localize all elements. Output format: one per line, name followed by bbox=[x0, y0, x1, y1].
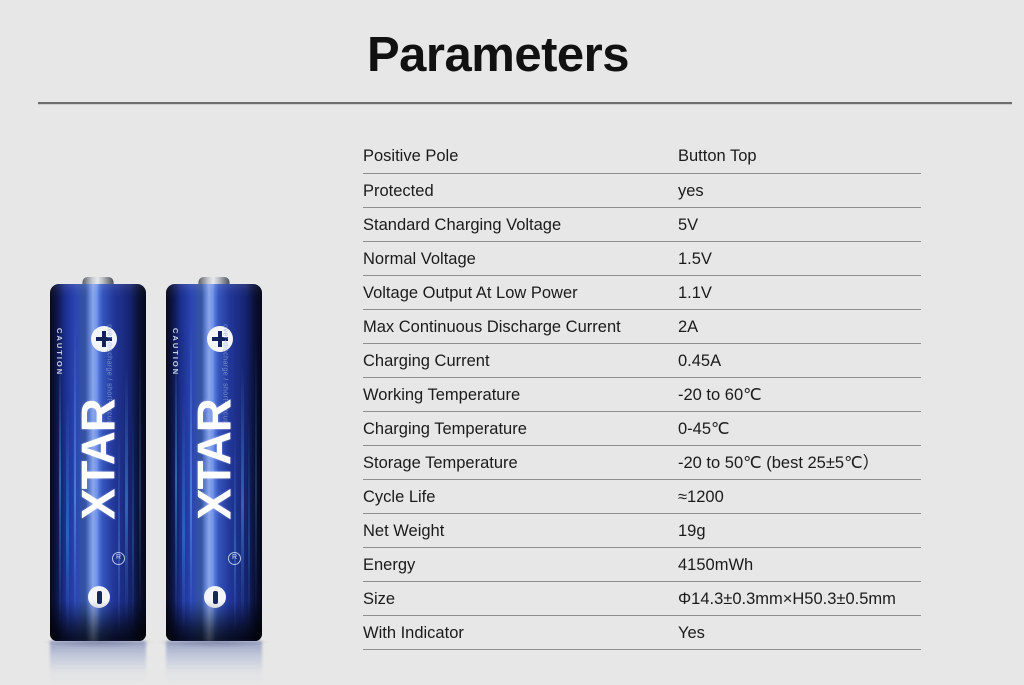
spec-label: Protected bbox=[363, 181, 678, 201]
table-row: Positive PoleButton Top bbox=[363, 139, 921, 174]
table-row: Normal Voltage1.5V bbox=[363, 242, 921, 276]
spec-value: 5V bbox=[678, 215, 921, 235]
spec-label: Charging Current bbox=[363, 351, 678, 371]
battery-reflection bbox=[166, 641, 262, 685]
table-row: SizeΦ14.3±0.3mm×H50.3±0.5mm bbox=[363, 582, 921, 616]
spec-value: 1.1V bbox=[678, 283, 921, 303]
table-row: Cycle Life≈1200 bbox=[363, 480, 921, 514]
spec-value: -20 to 50℃ (best 25±5℃） bbox=[678, 453, 921, 473]
spec-label: Normal Voltage bbox=[363, 249, 678, 269]
spec-value: ≈1200 bbox=[678, 487, 921, 507]
spec-label: Standard Charging Voltage bbox=[363, 215, 678, 235]
spec-label: Size bbox=[363, 589, 678, 609]
xtar-brand-logo: XTAR bbox=[71, 365, 126, 555]
table-row: With IndicatorYes bbox=[363, 616, 921, 650]
table-row: Voltage Output At Low Power1.1V bbox=[363, 276, 921, 310]
battery-1: CAUTION over-discharge / short-circuit X… bbox=[50, 277, 146, 641]
spec-label: Storage Temperature bbox=[363, 453, 678, 473]
caution-label: CAUTION bbox=[55, 328, 64, 408]
registered-trademark-icon: R bbox=[228, 552, 241, 565]
table-row: Storage Temperature-20 to 50℃ (best 25±5… bbox=[363, 446, 921, 480]
table-row: Net Weight19g bbox=[363, 514, 921, 548]
table-row: Charging Current0.45A bbox=[363, 344, 921, 378]
spec-label: With Indicator bbox=[363, 623, 678, 643]
spec-value: 2A bbox=[678, 317, 921, 337]
xtar-brand-logo: XTAR bbox=[187, 365, 242, 555]
bottom-shading bbox=[166, 601, 262, 641]
spec-value: Button Top bbox=[678, 146, 921, 166]
spec-label: Cycle Life bbox=[363, 487, 678, 507]
table-row: Protectedyes bbox=[363, 174, 921, 208]
product-image-batteries: CAUTION over-discharge / short-circuit X… bbox=[0, 0, 330, 683]
spec-value: Yes bbox=[678, 623, 921, 643]
positive-terminal-icon bbox=[91, 326, 117, 352]
spec-value: 1.5V bbox=[678, 249, 921, 269]
spec-label: Net Weight bbox=[363, 521, 678, 541]
table-row: Standard Charging Voltage5V bbox=[363, 208, 921, 242]
spec-value: 0-45℃ bbox=[678, 419, 921, 439]
registered-trademark-icon: R bbox=[112, 552, 125, 565]
spec-value: 0.45A bbox=[678, 351, 921, 371]
table-row: Charging Temperature0-45℃ bbox=[363, 412, 921, 446]
spec-label: Voltage Output At Low Power bbox=[363, 283, 678, 303]
table-row: Working Temperature-20 to 60℃ bbox=[363, 378, 921, 412]
spec-label: Energy bbox=[363, 555, 678, 575]
bottom-shading bbox=[50, 601, 146, 641]
right-edge-shading bbox=[130, 284, 146, 641]
spec-label: Charging Temperature bbox=[363, 419, 678, 439]
spec-label: Working Temperature bbox=[363, 385, 678, 405]
spec-value: 19g bbox=[678, 521, 921, 541]
specification-table: Positive PoleButton TopProtectedyesStand… bbox=[363, 139, 921, 650]
spec-value: Φ14.3±0.3mm×H50.3±0.5mm bbox=[678, 589, 921, 609]
battery-body: CAUTION over-discharge / short-circuit X… bbox=[166, 284, 262, 641]
positive-terminal-icon bbox=[207, 326, 233, 352]
battery-2: CAUTION over-discharge / short-circuit X… bbox=[166, 277, 262, 641]
table-row: Energy4150mWh bbox=[363, 548, 921, 582]
spec-label: Positive Pole bbox=[363, 146, 678, 166]
right-edge-shading bbox=[246, 284, 262, 641]
battery-body: CAUTION over-discharge / short-circuit X… bbox=[50, 284, 146, 641]
spec-value: 4150mWh bbox=[678, 555, 921, 575]
table-row: Max Continuous Discharge Current2A bbox=[363, 310, 921, 344]
caution-label: CAUTION bbox=[171, 328, 180, 408]
page-title: Parameters bbox=[367, 24, 629, 86]
spec-value: yes bbox=[678, 181, 921, 201]
spec-label: Max Continuous Discharge Current bbox=[363, 317, 678, 337]
battery-reflection bbox=[50, 641, 146, 685]
spec-value: -20 to 60℃ bbox=[678, 385, 921, 405]
